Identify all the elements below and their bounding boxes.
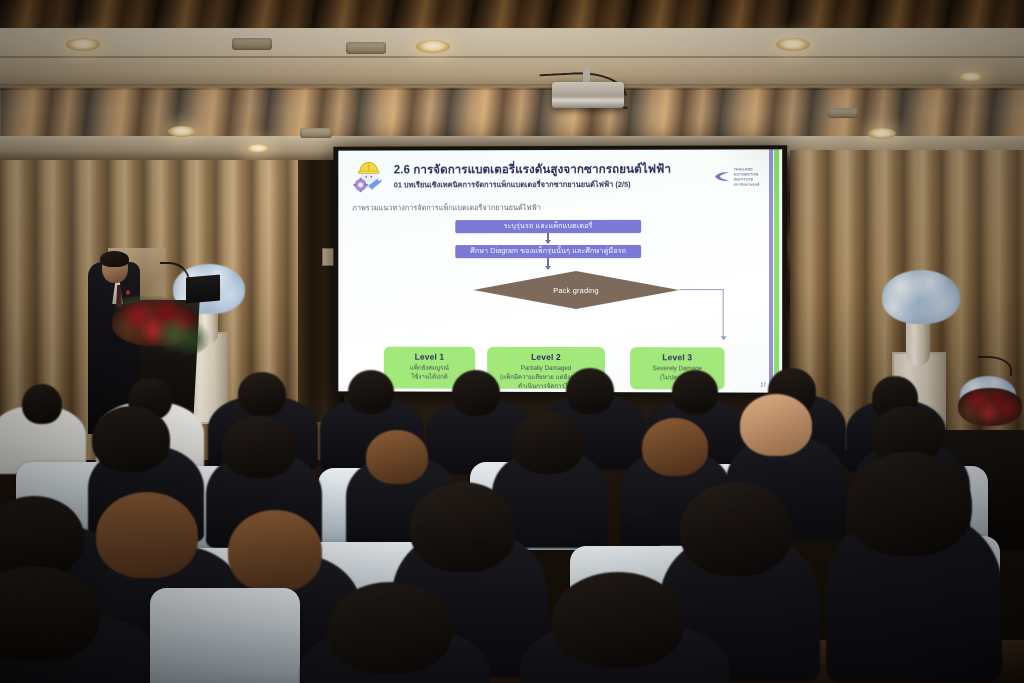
- ceiling-trim-line: [0, 84, 1024, 86]
- ceiling-soffit-upper: [0, 28, 1024, 90]
- ceiling-vent: [300, 128, 332, 138]
- audience-head: [642, 418, 708, 476]
- audience-head: [96, 492, 198, 578]
- audience-head: [846, 452, 972, 556]
- flow-diagram: ระบุรุ่นรถ และแพ็กแบตเตอรี่ ศึกษา Diagra…: [338, 220, 782, 393]
- seminar-room-photo: 2.6 การจัดการแบตเตอรี่แรงดันสูงจากซากรถย…: [0, 0, 1024, 683]
- foliage-left: [150, 316, 210, 356]
- slide-caption: ภาพรวมแนวทางการจัดการแพ็กแบตเตอรี่จากยาน…: [352, 203, 782, 215]
- presenter-lapel-pin: [126, 290, 130, 295]
- presenter-hair: [100, 251, 129, 267]
- audience-head: [366, 430, 428, 484]
- audience-head: [222, 416, 296, 478]
- projection-screen: 2.6 การจัดการแบตเตอรี่แรงดันสูงจากซากรถย…: [338, 149, 782, 392]
- ceiling-downlight: [958, 72, 984, 82]
- flow-arrow-head: [545, 266, 551, 270]
- ceiling-downlight: [776, 38, 810, 51]
- ceiling-downlight: [168, 126, 196, 137]
- logo-line-3: INSTITUTE: [734, 177, 760, 181]
- logo-wordmark: THAILAND AUTOMOTIVE INSTITUTE สถาบันยานย…: [734, 167, 760, 186]
- audience-head: [672, 370, 718, 414]
- connector-arrow-head: [721, 336, 727, 340]
- level-1-title: Level 1: [388, 352, 471, 362]
- flow-step-1: ระบุรุ่นรถ และแพ็กแบตเตอรี่: [455, 220, 641, 233]
- ceiling-vent: [346, 42, 386, 54]
- ceiling-downlight: [246, 144, 270, 153]
- ceiling-trim-line: [0, 56, 1024, 58]
- slide-title-block: 2.6 การจัดการแบตเตอรี่แรงดันสูงจากซากรถย…: [394, 162, 706, 191]
- ceiling-downlight: [416, 40, 450, 53]
- logo-line-1: THAILAND: [734, 167, 760, 171]
- slide-header: 2.6 การจัดการแบตเตอรี่แรงดันสูงจากซากรถย…: [350, 158, 770, 195]
- logo-line-4: สถาบันยานยนต์: [734, 182, 760, 186]
- audience-head: [680, 482, 792, 576]
- presentation-slide: 2.6 การจัดการแบตเตอรี่แรงดันสูงจากซากรถย…: [338, 149, 782, 392]
- floral-arrangement-right: [882, 270, 960, 324]
- audience-head: [740, 394, 812, 456]
- ceiling-bronze-panel-upper: [0, 0, 1024, 30]
- level-2-title: Level 2: [491, 352, 601, 362]
- worker-hardhat-gear-wrench-icon: [350, 159, 386, 195]
- audience-head: [512, 412, 584, 474]
- ceiling-vent: [232, 38, 272, 50]
- audience-head: [348, 370, 394, 414]
- thailand-automotive-institute-logo: THAILAND AUTOMOTIVE INSTITUTE สถาบันยานย…: [714, 165, 770, 187]
- ceiling-downlight: [868, 128, 896, 139]
- ceiling-downlight: [66, 38, 100, 51]
- audience-chair: [150, 588, 300, 683]
- flow-arrow-head: [545, 240, 551, 244]
- audience-head: [92, 406, 170, 472]
- audience-head: [22, 384, 62, 424]
- audience-head: [452, 370, 500, 416]
- audience-head: [552, 572, 684, 668]
- audience-area: [0, 376, 1024, 683]
- slide-subtitle: 01 บทเรียนเชิงเทคนิคการจัดการแพ็กแบตเตอร…: [394, 179, 706, 192]
- flow-step-2: ศึกษา Diagram ของแพ็กรุ่นนั้นๆ และศึกษาค…: [455, 245, 641, 258]
- audience-head: [238, 372, 286, 416]
- level-3-title: Level 3: [634, 352, 720, 362]
- podium-laptop: [186, 275, 220, 304]
- ceiling-vent: [828, 108, 858, 118]
- logo-line-2: AUTOMOTIVE: [734, 172, 760, 176]
- audience-head: [228, 510, 322, 592]
- audience-head: [566, 368, 614, 414]
- audience-head: [328, 582, 452, 674]
- ceiling-projector: [552, 82, 624, 108]
- swoosh-icon: [714, 170, 731, 184]
- decision-pack-grading: Pack grading: [473, 271, 679, 309]
- audience-head: [410, 482, 516, 572]
- level-1-desc-line: แพ็กยังสมบูรณ์: [388, 365, 471, 374]
- slide-title: 2.6 การจัดการแบตเตอรี่แรงดันสูงจากซากรถย…: [394, 162, 706, 176]
- connector-line: [723, 289, 724, 337]
- projection-screen-frame: 2.6 การจัดการแบตเตอรี่แรงดันสูงจากซากรถย…: [333, 145, 787, 396]
- connector-line: [679, 289, 723, 290]
